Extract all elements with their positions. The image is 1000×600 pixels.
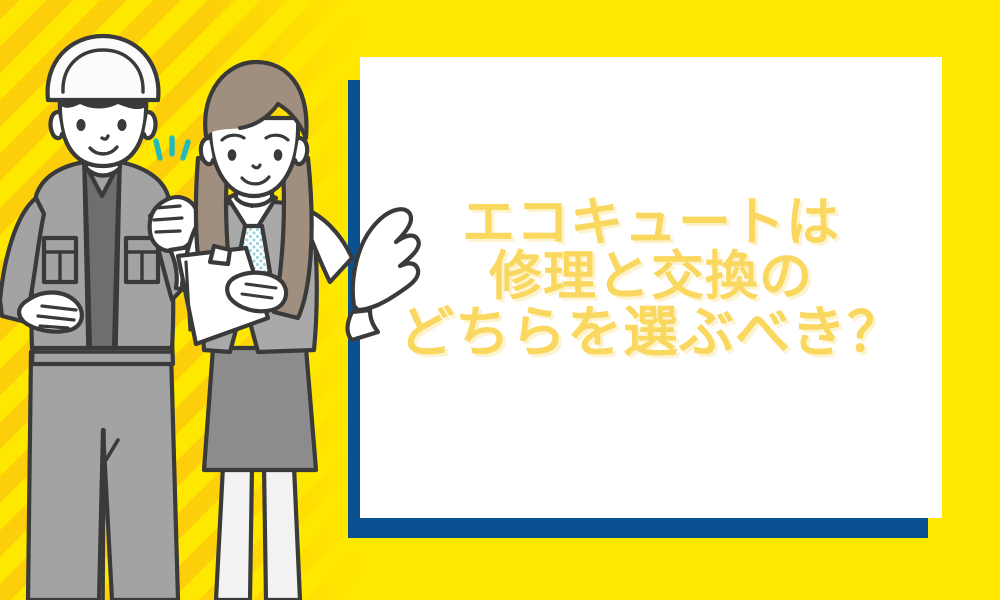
illustration-people: [0, 0, 440, 600]
sparkle-strokes-icon: [156, 138, 188, 158]
figure-male-technician: [0, 36, 200, 600]
white-content-card: [360, 57, 942, 518]
figure-female-staff: [178, 62, 419, 600]
banner-canvas: エコキュートは 修理と交換の どちらを選ぶべき？: [0, 0, 1000, 600]
